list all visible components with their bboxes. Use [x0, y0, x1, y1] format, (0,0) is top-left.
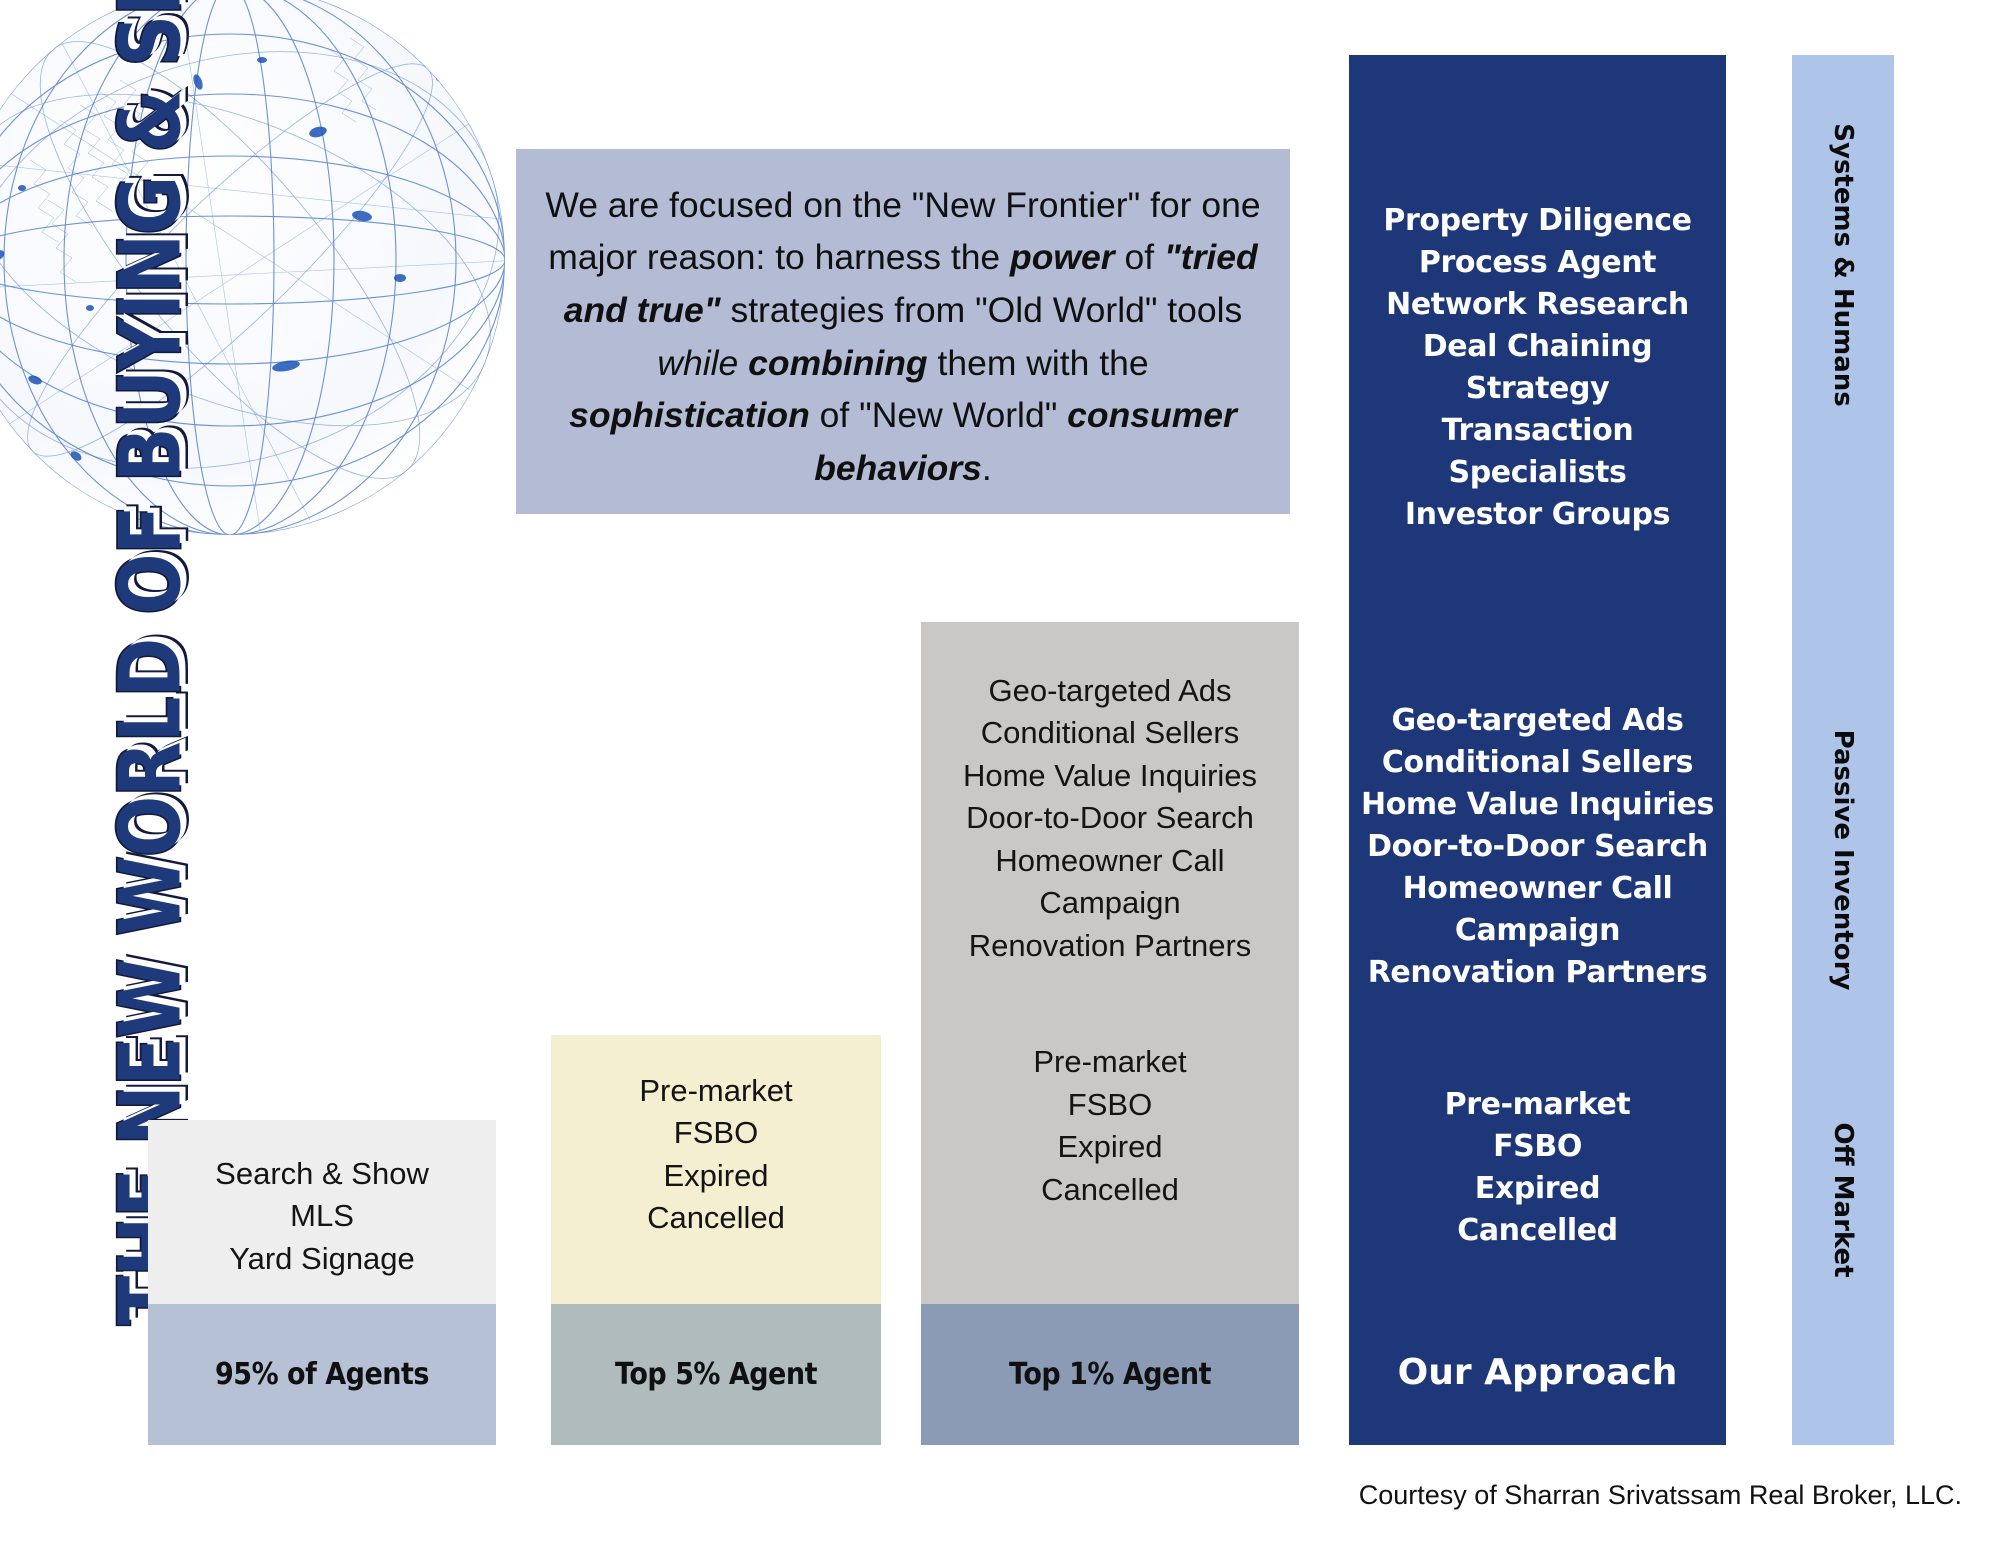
column-footer-label: Top 1% Agent: [1009, 1357, 1211, 1392]
column-body: Property DiligenceProcess AgentNetwork R…: [1349, 55, 1726, 1445]
capability-item: Geo-targeted Ads: [1349, 700, 1726, 742]
capability-item: Network Research: [1349, 284, 1726, 326]
capability-item: Expired: [921, 1126, 1299, 1168]
capability-group: Property DiligenceProcess AgentNetwork R…: [1349, 200, 1726, 536]
capability-group: Search & ShowMLSYard Signage: [148, 1153, 496, 1280]
column-95-percent-agents: Search & ShowMLSYard Signage 95% of Agen…: [148, 1120, 496, 1445]
capability-item: Campaign: [1349, 910, 1726, 952]
capability-item: Yard Signage: [148, 1238, 496, 1280]
capability-item: Home Value Inquiries: [921, 755, 1299, 797]
capability-item: Conditional Sellers: [1349, 742, 1726, 784]
intro-text-segment: [738, 343, 748, 383]
capability-group: Pre-marketFSBOExpiredCancelled: [551, 1070, 881, 1240]
capability-group: Pre-marketFSBOExpiredCancelled: [1349, 1084, 1726, 1252]
column-footer: Top 1% Agent: [921, 1304, 1299, 1445]
capability-item: Search & Show: [148, 1153, 496, 1195]
column-top-1-percent-agent: Geo-targeted AdsConditional SellersHome …: [921, 622, 1299, 1445]
capability-item: Campaign: [921, 882, 1299, 924]
capability-item: Property Diligence: [1349, 200, 1726, 242]
capability-item: Transaction Specialists: [1349, 410, 1726, 494]
capability-item: Renovation Partners: [1349, 952, 1726, 994]
intro-text-segment: .: [982, 448, 992, 488]
column-axis-labels: Systems & Humans Passive Inventory Off M…: [1792, 55, 1894, 1445]
capability-item: Process Agent: [1349, 242, 1726, 284]
column-top-5-percent-agent: Pre-marketFSBOExpiredCancelled Top 5% Ag…: [551, 1035, 881, 1445]
capability-item: Expired: [1349, 1168, 1726, 1210]
intro-text-segment: strategies from "Old World" tools: [721, 290, 1243, 330]
capability-item: Cancelled: [551, 1197, 881, 1239]
capability-group: Geo-targeted AdsConditional SellersHome …: [921, 670, 1299, 967]
capability-item: FSBO: [1349, 1126, 1726, 1168]
capability-item: Investor Groups: [1349, 494, 1726, 536]
capability-item: Homeowner Call: [1349, 868, 1726, 910]
capability-item: Cancelled: [1349, 1210, 1726, 1252]
infographic-canvas: THE NEW WORLD OF BUYING & SELLING We are…: [0, 0, 2000, 1545]
column-body: Search & ShowMLSYard Signage: [148, 1120, 496, 1304]
courtesy-credit: Courtesy of Sharran Srivatssam Real Brok…: [1359, 1480, 1962, 1511]
axis-label-passive-inventory: Passive Inventory: [1828, 730, 1858, 991]
column-footer: 95% of Agents: [148, 1304, 496, 1445]
column-footer-label: Top 5% Agent: [615, 1357, 817, 1392]
capability-item: FSBO: [551, 1112, 881, 1154]
intro-text-segment: combining: [748, 343, 927, 383]
capability-item: Deal Chaining Strategy: [1349, 326, 1726, 410]
capability-item: Conditional Sellers: [921, 712, 1299, 754]
capability-item: Pre-market: [551, 1070, 881, 1112]
capability-item: Geo-targeted Ads: [921, 670, 1299, 712]
intro-text-segment: while: [657, 343, 738, 383]
capability-item: Expired: [551, 1155, 881, 1197]
column-our-approach: Property DiligenceProcess AgentNetwork R…: [1349, 55, 1726, 1445]
intro-text-segment: of: [1115, 237, 1164, 277]
column-footer: Top 5% Agent: [551, 1304, 881, 1445]
column-body: Geo-targeted AdsConditional SellersHome …: [921, 622, 1299, 1304]
capability-group: Pre-marketFSBOExpiredCancelled: [921, 1041, 1299, 1211]
capability-item: Cancelled: [921, 1169, 1299, 1211]
capability-item: Pre-market: [921, 1041, 1299, 1083]
capability-item: Door-to-Door Search: [921, 797, 1299, 839]
intro-statement-text: We are focused on the "New Frontier" for…: [544, 179, 1262, 494]
capability-item: Renovation Partners: [921, 925, 1299, 967]
intro-text-segment: them with the: [928, 343, 1149, 383]
capability-item: MLS: [148, 1195, 496, 1237]
capability-group: Geo-targeted AdsConditional SellersHome …: [1349, 700, 1726, 994]
globe-wireframe-icon: [0, 0, 550, 580]
capability-item: Door-to-Door Search: [1349, 826, 1726, 868]
capability-item: Homeowner Call: [921, 840, 1299, 882]
intro-text-segment: power: [1010, 237, 1115, 277]
axis-label-off-market: Off Market: [1828, 1122, 1858, 1277]
capability-item: Home Value Inquiries: [1349, 784, 1726, 826]
intro-statement-box: We are focused on the "New Frontier" for…: [516, 149, 1290, 514]
column-footer-label: 95% of Agents: [215, 1357, 429, 1392]
intro-text-segment: of "New World": [810, 395, 1067, 435]
intro-text-segment: sophistication: [569, 395, 810, 435]
capability-item: Pre-market: [1349, 1084, 1726, 1126]
column-body: Pre-marketFSBOExpiredCancelled: [551, 1035, 881, 1304]
column-footer-label: Our Approach: [1349, 1352, 1726, 1393]
capability-item: FSBO: [921, 1084, 1299, 1126]
axis-label-systems-humans: Systems & Humans: [1828, 123, 1858, 406]
